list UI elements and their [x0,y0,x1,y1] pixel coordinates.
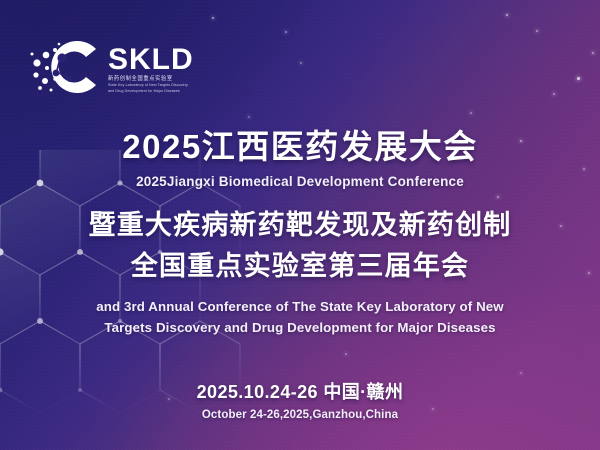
skld-chinese-name: 新药创制全国重点实验室 [108,76,194,83]
subtitle-line2-cn: 暨重大疾病新药靶发现及新药创制 [0,208,600,242]
poster-content: 2025江西医药发展大会 2025Jiangxi Biomedical Deve… [0,128,600,338]
skld-wordmark: SKLD [108,45,194,75]
skld-logo: SKLD 新药创制全国重点实验室 State Key Laboratory of… [26,33,194,101]
subtitle-line3-cn: 全国重点实验室第三届年会 [0,249,600,283]
poster-footer: 2025.10.24-26 中国·赣州 October 24-26,2025,G… [0,378,600,421]
event-date-location-cn: 2025.10.24-26 中国·赣州 [0,378,600,404]
subtitle-en-line1: and 3rd Annual Conference of The State K… [0,297,600,318]
skld-english-name-line2: and Drug Development for Major Diseases [108,89,194,94]
conference-poster: SKLD 新药创制全国重点实验室 State Key Laboratory of… [0,0,600,450]
skld-molecular-c-icon [26,33,102,101]
skld-logo-text: SKLD 新药创制全国重点实验室 State Key Laboratory of… [108,41,194,94]
event-date-location-en: October 24-26,2025,Ganzhou,China [0,409,600,421]
skld-english-name-line1: State Key Laboratory of New Targets Disc… [108,83,194,88]
subtitle-en-line2: Targets Discovery and Drug Development f… [0,318,600,339]
main-title-en: 2025Jiangxi Biomedical Development Confe… [0,174,600,189]
main-title-cn: 2025江西医药发展大会 [0,128,600,167]
